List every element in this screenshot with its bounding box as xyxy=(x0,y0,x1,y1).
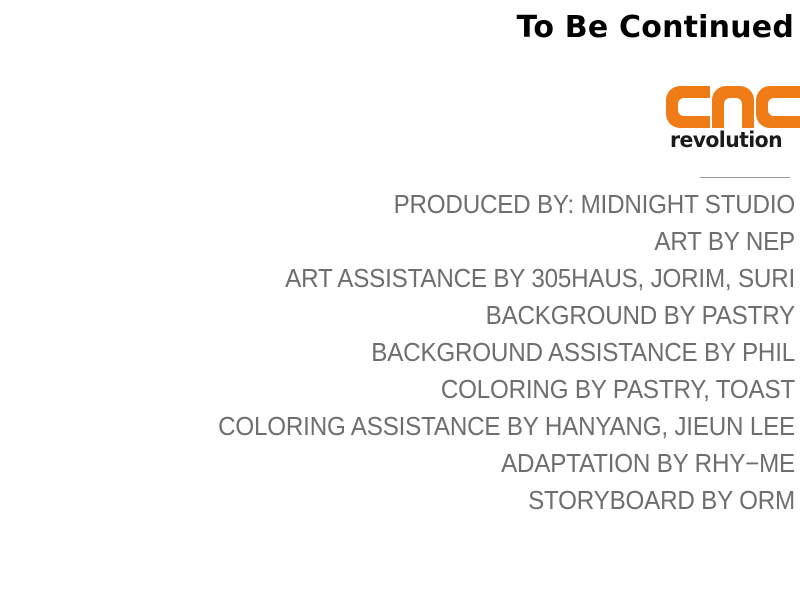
credit-line: STORYBOARD BY ORM xyxy=(56,482,795,519)
credit-line: ART ASSISTANCE BY 305HAUS, JORIM, SURI xyxy=(56,260,795,297)
credits-list: PRODUCED BY: MIDNIGHT STUDIO ART BY NEP … xyxy=(0,186,800,519)
credit-line: BACKGROUND BY PASTRY xyxy=(56,297,795,334)
credit-line: COLORING ASSISTANCE BY HANYANG, JIEUN LE… xyxy=(56,408,795,445)
logo-wordmark: revolution xyxy=(670,129,796,151)
credits-page: To Be Continued revolution PRODUCED BY: … xyxy=(0,0,800,601)
to-be-continued-banner: To Be Continued xyxy=(0,8,800,48)
credit-line: COLORING BY PASTRY, TOAST xyxy=(56,371,795,408)
cnc-revolution-logo: revolution xyxy=(666,86,800,154)
credit-line: BACKGROUND ASSISTANCE BY PHIL xyxy=(56,334,795,371)
credit-line: ADAPTATION BY RHY−ME xyxy=(56,445,795,482)
page-title: To Be Continued xyxy=(517,8,794,48)
divider-line xyxy=(700,177,790,178)
credit-line: PRODUCED BY: MIDNIGHT STUDIO xyxy=(56,186,795,223)
credit-line: ART BY NEP xyxy=(56,223,795,260)
divider xyxy=(0,170,800,184)
cnc-logo-icon xyxy=(666,86,800,128)
